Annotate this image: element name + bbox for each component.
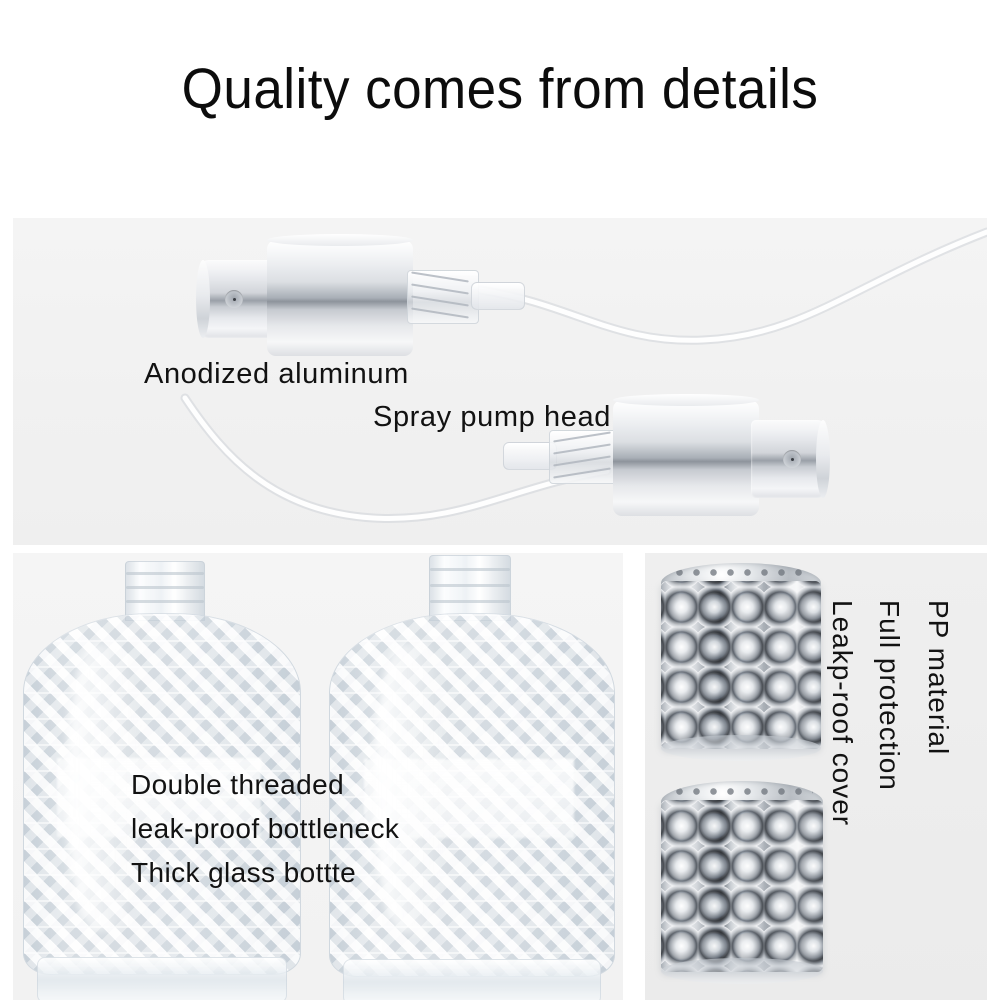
neck-thread (126, 572, 204, 575)
cap-metal-sheen (661, 800, 823, 972)
page-title: Quality comes from details (35, 58, 965, 120)
bottle-base-right (343, 959, 601, 1000)
product-detail-image: Quality comes from details (0, 0, 1000, 1000)
cap-body-upper (661, 581, 821, 749)
bottle-neck-right (429, 555, 511, 621)
spray-hole-icon (783, 450, 801, 468)
cap-metal-sheen (661, 581, 821, 749)
pump-nozzle-face-lower (816, 420, 830, 498)
label-spray-pump-head: Spray pump head (373, 400, 611, 434)
label-pp-material: PP material (922, 600, 954, 755)
pump-nozzle-face-upper (196, 260, 210, 338)
spray-pump-head-upper (199, 236, 519, 360)
spray-hole-icon (225, 290, 243, 308)
pump-barrel-rim-lower (613, 394, 759, 406)
cap-body-lower (661, 800, 823, 972)
pump-barrel-upper (267, 240, 413, 356)
neck-thread (430, 584, 510, 587)
cap-bottom-rim-upper (661, 735, 821, 761)
pump-tube-connector-upper (471, 282, 525, 310)
bottle-base-left (37, 957, 287, 1000)
label-leak-roof-cover: Leakp-roof cover (826, 600, 858, 826)
label-bottle-line-1: Double threaded (131, 763, 399, 807)
neck-thread (430, 568, 510, 571)
label-bottle-features: Double threaded leak-proof bottleneck Th… (131, 763, 399, 895)
crystal-cap-upper (657, 563, 827, 763)
cap-bottom-rim-lower (661, 958, 823, 984)
label-bottle-line-3: Thick glass bottte (131, 851, 399, 895)
label-bottle-line-2: leak-proof bottleneck (131, 807, 399, 851)
label-anodized-aluminum: Anodized aluminum (144, 357, 409, 391)
crystal-cap-lower (657, 781, 827, 991)
neck-thread (126, 586, 204, 589)
pump-barrel-lower (613, 400, 759, 516)
label-full-protection: Full protection (873, 600, 905, 791)
bottle-neck-left (125, 561, 205, 621)
pump-barrel-rim-upper (267, 234, 413, 246)
neck-thread (430, 600, 510, 603)
neck-thread (126, 600, 204, 603)
bottle-highlight (68, 643, 140, 931)
